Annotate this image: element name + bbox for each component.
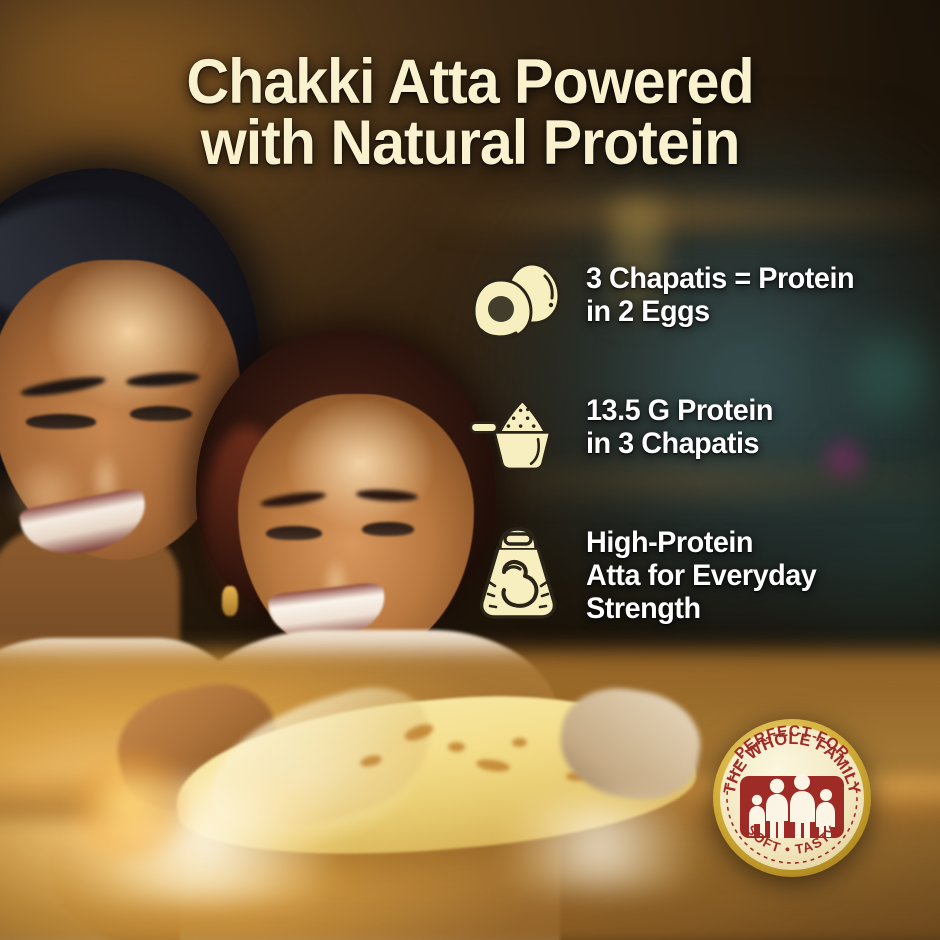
feature-item-strength: High-Protein Atta for Everyday Strength bbox=[470, 522, 940, 625]
background-shelf bbox=[420, 200, 940, 226]
child-eye-right bbox=[362, 522, 414, 536]
status-badge: PERFECT FOR THE WHOLE FAMILY bbox=[712, 718, 872, 878]
page-title: Chakki Atta Powered with Natural Protein bbox=[0, 52, 940, 174]
feature-strength-line-3: Strength bbox=[586, 592, 816, 625]
chapati-char-spot bbox=[512, 738, 527, 747]
table-light-glow-secondary bbox=[480, 800, 720, 890]
eggs-icon bbox=[470, 258, 566, 344]
feature-item-protein-amount: 13.5 G Protein in 3 Chapatis bbox=[470, 390, 940, 476]
child-earring bbox=[222, 586, 238, 616]
feature-eggs-line-2: in 2 Eggs bbox=[586, 295, 854, 328]
feature-strength-line-2: Atta for Everyday bbox=[586, 559, 816, 592]
feature-eggs-line-1: 3 Chapatis = Protein bbox=[586, 262, 854, 295]
child-eye-left bbox=[266, 526, 322, 540]
feature-text-strength: High-Protein Atta for Everyday Strength bbox=[586, 522, 816, 625]
lamp-glow bbox=[70, 750, 190, 860]
protein-flour-bag-icon bbox=[470, 522, 566, 620]
feature-protein-line-2: in 3 Chapatis bbox=[586, 427, 773, 460]
mother-eye-right bbox=[130, 406, 192, 421]
ad-creative: Chakki Atta Powered with Natural Protein bbox=[0, 0, 940, 940]
headline-line-2: with Natural Protein bbox=[53, 113, 888, 174]
mother-eye-left bbox=[26, 414, 96, 429]
feature-strength-line-1: High-Protein bbox=[586, 526, 816, 559]
feature-list: 3 Chapatis = Protein in 2 Eggs bbox=[470, 258, 940, 625]
headline-line-1: Chakki Atta Powered bbox=[53, 52, 888, 113]
flour-scoop-icon bbox=[470, 390, 566, 476]
feature-text-protein-amount: 13.5 G Protein in 3 Chapatis bbox=[586, 390, 773, 460]
feature-protein-line-1: 13.5 G Protein bbox=[586, 394, 773, 427]
feature-item-eggs: 3 Chapatis = Protein in 2 Eggs bbox=[470, 258, 940, 344]
feature-text-eggs: 3 Chapatis = Protein in 2 Eggs bbox=[586, 258, 854, 328]
chapati-char-spot bbox=[448, 742, 465, 752]
